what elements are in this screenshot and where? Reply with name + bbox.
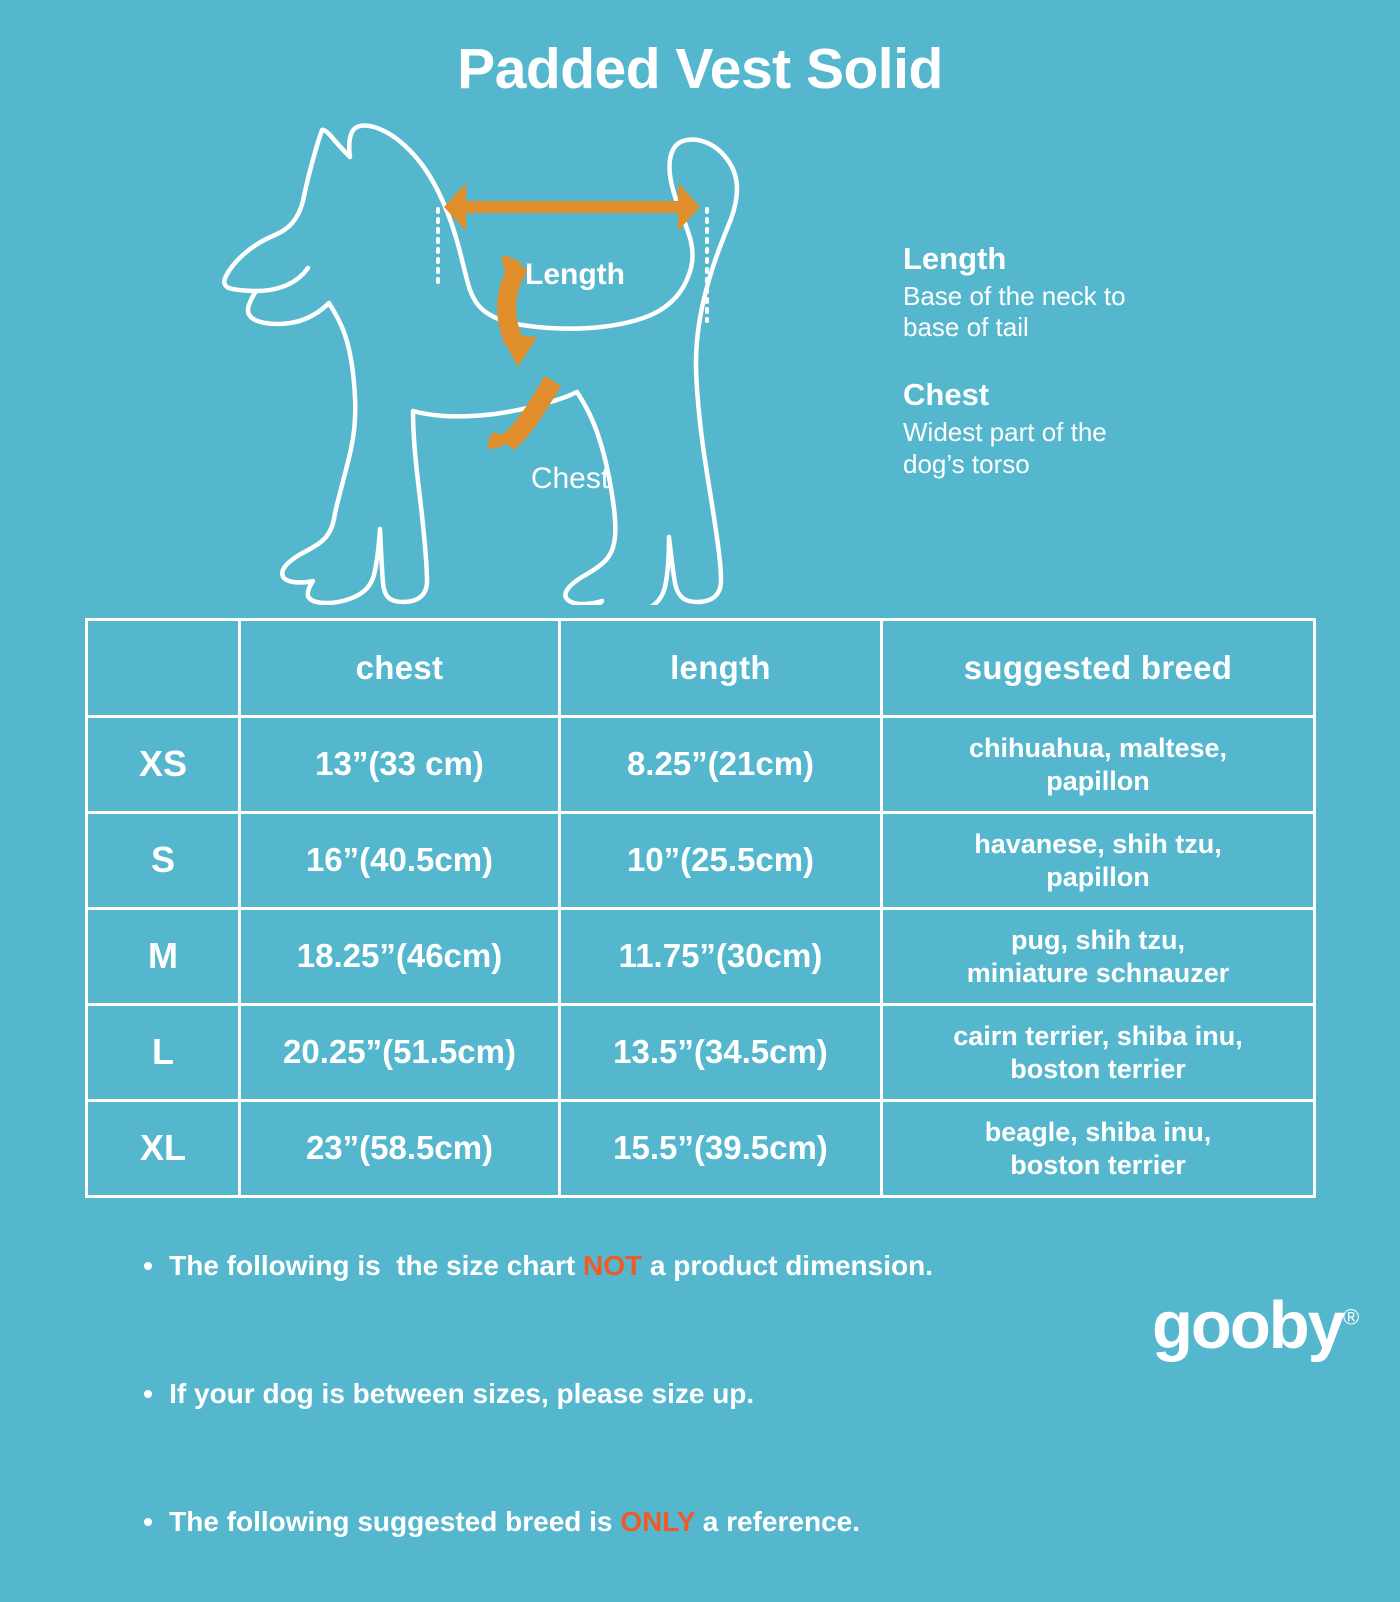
breed-line: chihuahua, maltese, [891,732,1305,765]
breed-line: papillon [891,765,1305,798]
cell-breed: pug, shih tzu, miniature schnauzer [882,909,1315,1005]
measurement-legend: Length Base of the neck to base of tail … [903,240,1193,512]
brand-name: gooby [1152,1288,1343,1363]
breed-line: cairn terrier, shiba inu, [891,1020,1305,1053]
size-chart-page: { "title": "Padded Vest Solid", "colors"… [0,0,1400,1400]
column-header-breed: suggested breed [882,620,1315,717]
cell-chest: 23”(58.5cm) [240,1101,560,1197]
table-row: XL 23”(58.5cm) 15.5”(39.5cm) beagle, shi… [87,1101,1315,1197]
length-arrow-label: Length [455,258,695,292]
legend-item-length: Length Base of the neck to base of tail [903,240,1193,344]
note-text-highlight: NOT [583,1250,642,1281]
legend-heading: Length [903,240,1193,279]
table-header: chest length suggested breed [87,620,1315,717]
legend-description-line: dog’s torso [903,449,1193,481]
breed-line: papillon [891,861,1305,894]
legend-description-line: Widest part of the [903,417,1193,449]
breed-line: boston terrier [891,1053,1305,1086]
cell-size: L [87,1005,240,1101]
note-text-pre: The following is the size chart [169,1250,583,1281]
cell-chest: 16”(40.5cm) [240,813,560,909]
table-body: XS 13”(33 cm) 8.25”(21cm) chihuahua, mal… [87,717,1315,1197]
legend-description: Base of the neck to base of tail [903,281,1193,344]
cell-size: XL [87,1101,240,1197]
cell-breed: cairn terrier, shiba inu, boston terrier [882,1005,1315,1101]
cell-length: 11.75”(30cm) [560,909,882,1005]
cell-size: XS [87,717,240,813]
chest-band-label: Chest [470,462,670,496]
cell-chest: 13”(33 cm) [240,717,560,813]
breed-line: boston terrier [891,1149,1305,1182]
table-row: M 18.25”(46cm) 11.75”(30cm) pug, shih tz… [87,909,1315,1005]
cell-length: 15.5”(39.5cm) [560,1101,882,1197]
note-text-pre: If your dog is between sizes, please siz… [169,1378,754,1409]
table-row: S 16”(40.5cm) 10”(25.5cm) havanese, shih… [87,813,1315,909]
cell-length: 13.5”(34.5cm) [560,1005,882,1101]
table-header-row: chest length suggested breed [87,620,1315,717]
disclaimer-notes: •The following is the size chart NOT a p… [112,1218,1112,1602]
legend-description-line: base of tail [903,312,1193,344]
note-text-post: a reference. [695,1506,860,1537]
brand-logo: gooby® [1152,1292,1359,1359]
cell-breed: chihuahua, maltese, papillon [882,717,1315,813]
table-row: L 20.25”(51.5cm) 13.5”(34.5cm) cairn ter… [87,1005,1315,1101]
table-row: XS 13”(33 cm) 8.25”(21cm) chihuahua, mal… [87,717,1315,813]
note-item: •The following suggested breed is ONLY a… [112,1474,1112,1570]
legend-heading: Chest [903,376,1193,415]
note-text-highlight: ONLY [620,1506,695,1537]
bullet-icon: • [143,1506,169,1538]
registered-trademark-icon: ® [1343,1305,1359,1330]
note-text-post: a product dimension. [642,1250,933,1281]
note-text-pre: The following suggested breed is [169,1506,620,1537]
bullet-icon: • [143,1378,169,1410]
column-header-chest: chest [240,620,560,717]
cell-breed: beagle, shiba inu, boston terrier [882,1101,1315,1197]
cell-size: S [87,813,240,909]
cell-size: M [87,909,240,1005]
note-item: •The following is the size chart NOT a p… [112,1218,1112,1314]
breed-line: beagle, shiba inu, [891,1116,1305,1149]
cell-chest: 18.25”(46cm) [240,909,560,1005]
cell-length: 10”(25.5cm) [560,813,882,909]
cell-chest: 20.25”(51.5cm) [240,1005,560,1101]
size-chart-table: chest length suggested breed XS 13”(33 c… [85,618,1316,1198]
breed-line: pug, shih tzu, [891,924,1305,957]
column-header-length: length [560,620,882,717]
note-item: •If your dog is between sizes, please si… [112,1346,1112,1442]
cell-breed: havanese, shih tzu, papillon [882,813,1315,909]
bullet-icon: • [143,1250,169,1282]
dog-outline-icon [215,105,855,605]
page-title: Padded Vest Solid [0,38,1400,101]
legend-description-line: Base of the neck to [903,281,1193,313]
legend-description: Widest part of the dog’s torso [903,417,1193,480]
cell-length: 8.25”(21cm) [560,717,882,813]
breed-line: havanese, shih tzu, [891,828,1305,861]
legend-item-chest: Chest Widest part of the dog’s torso [903,376,1193,480]
breed-line: miniature schnauzer [891,957,1305,990]
column-header-size [87,620,240,717]
double-arrow-horizontal-icon [444,183,700,231]
